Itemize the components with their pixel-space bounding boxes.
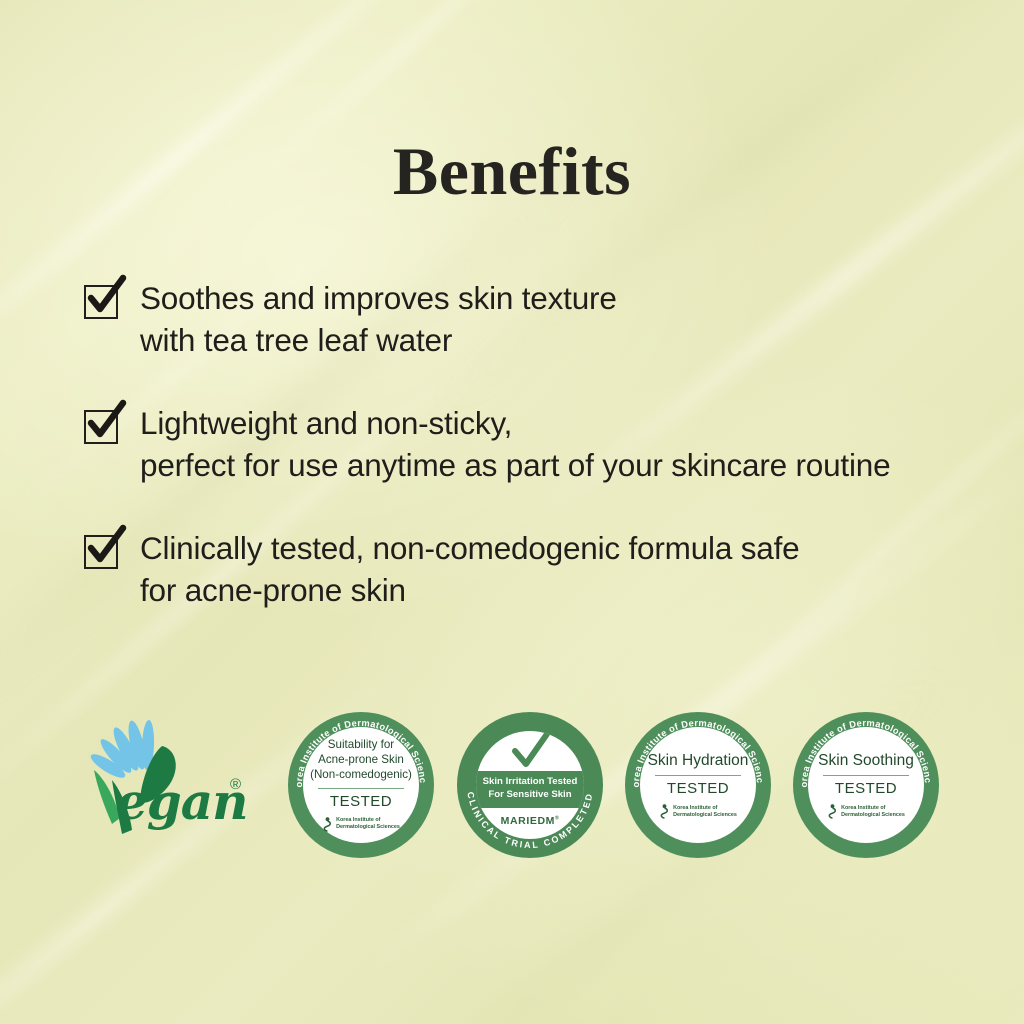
badge-divider bbox=[318, 788, 404, 789]
benefit-item: Clinically tested, non-comedogenic formu… bbox=[84, 528, 964, 611]
badge-inner: Suitability for Acne-prone Skin (Non-com… bbox=[303, 727, 419, 843]
benefit-item: Soothes and improves skin texture with t… bbox=[84, 278, 964, 361]
badge-footer: Korea Institute of Dermatological Scienc… bbox=[659, 804, 737, 819]
badge-footer-text: Korea Institute of Dermatological Scienc… bbox=[673, 805, 737, 819]
badge-title: Skin Hydration bbox=[644, 751, 753, 771]
checked-checkbox-icon bbox=[84, 535, 118, 569]
badge-title: Skin Irritation Tested For Sensitive Ski… bbox=[476, 771, 584, 808]
badge-brand: MARIEDM® bbox=[501, 815, 560, 827]
badge-footer-text: Korea Institute of Dermatological Scienc… bbox=[841, 805, 905, 819]
page-title: Benefits bbox=[0, 132, 1024, 211]
kids-emblem-icon bbox=[827, 804, 838, 819]
badge-footer: Korea Institute of Dermatological Scienc… bbox=[322, 817, 400, 832]
benefit-text: Soothes and improves skin texture with t… bbox=[140, 278, 617, 361]
kids-emblem-icon bbox=[322, 817, 333, 832]
checked-checkbox-icon bbox=[84, 410, 118, 444]
badge-divider bbox=[823, 775, 909, 776]
badge-brand-name: MARIEDM bbox=[501, 815, 555, 827]
badge-clinical-trial-completed: CLINICAL TRIAL COMPLETED Skin Irritation… bbox=[457, 712, 603, 858]
vegan-logo: egan ® bbox=[78, 718, 268, 868]
badge-skin-soothing: Korea Institute of Dermatological Scienc… bbox=[793, 712, 939, 858]
badge-footer: Korea Institute of Dermatological Scienc… bbox=[827, 804, 905, 819]
badge-result: TESTED bbox=[667, 780, 729, 797]
badge-inner: Skin Soothing TESTED Korea Institute of … bbox=[808, 727, 924, 843]
benefit-text: Lightweight and non-sticky, perfect for … bbox=[140, 403, 890, 486]
badge-acne-prone-suitability: Korea Institute of Dermatological Scienc… bbox=[288, 712, 434, 858]
badge-title: Suitability for Acne-prone Skin (Non-com… bbox=[306, 738, 416, 782]
checkmark-icon bbox=[509, 732, 551, 770]
badge-footer-text: Korea Institute of Dermatological Scienc… bbox=[336, 817, 400, 831]
badge-skin-hydration: Korea Institute of Dermatological Scienc… bbox=[625, 712, 771, 858]
badge-result: TESTED bbox=[330, 793, 392, 810]
benefit-item: Lightweight and non-sticky, perfect for … bbox=[84, 403, 964, 486]
benefits-list: Soothes and improves skin texture with t… bbox=[84, 278, 964, 611]
badge-inner: Skin Irritation Tested For Sensitive Ski… bbox=[476, 731, 584, 839]
badge-title: Skin Soothing bbox=[814, 751, 918, 771]
checked-checkbox-icon bbox=[84, 285, 118, 319]
badge-inner: Skin Hydration TESTED Korea Institute of… bbox=[640, 727, 756, 843]
vegan-wordmark: egan bbox=[116, 772, 248, 831]
badge-result: TESTED bbox=[835, 780, 897, 797]
badge-divider bbox=[655, 775, 741, 776]
kids-emblem-icon bbox=[659, 804, 670, 819]
benefit-text: Clinically tested, non-comedogenic formu… bbox=[140, 528, 799, 611]
badge-brand-mark: ® bbox=[555, 815, 559, 821]
certification-row: egan ® Korea Institute of Dermatological… bbox=[0, 700, 1024, 880]
vegan-registered-mark: ® bbox=[230, 776, 241, 793]
benefits-page: Benefits Soothes and improves skin textu… bbox=[0, 0, 1024, 1024]
